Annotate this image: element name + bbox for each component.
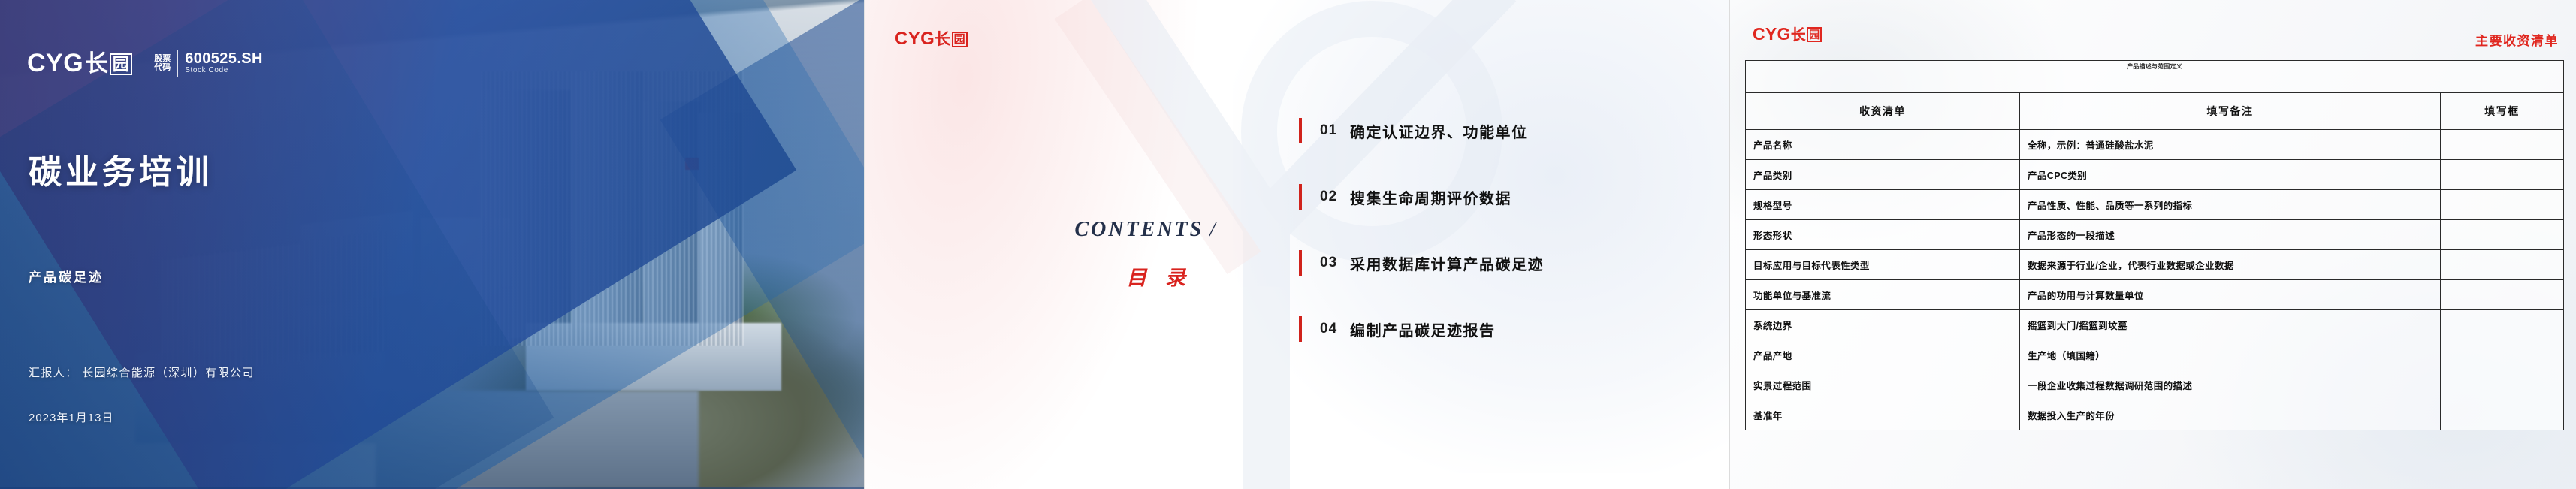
- table-row: 系统边界 摇篮到大门/摇篮到坟墓: [1746, 310, 2564, 340]
- cell-fill-input[interactable]: [2441, 190, 2564, 220]
- stock-label: 股票 代码: [154, 54, 171, 72]
- toc-item-04[interactable]: 04 编制产品碳足迹报告: [1299, 309, 1690, 349]
- cover-subtitle: 产品碳足迹: [29, 267, 104, 285]
- cell-note: 产品形态的一段描述: [2020, 220, 2441, 250]
- toc-item-number: 01: [1320, 122, 1350, 139]
- table-row: 实景过程范围 一段企业收集过程数据调研范围的描述: [1746, 370, 2564, 400]
- cell-fill-input[interactable]: [2441, 160, 2564, 190]
- cell-item: 实景过程范围: [1746, 370, 2020, 400]
- logo-divider: [143, 50, 143, 77]
- inventory-page-heading: 主要收资清单: [2475, 30, 2559, 49]
- toc-item-label: 确定认证边界、功能单位: [1350, 120, 1528, 142]
- inventory-logo-cn-boxed: 园: [1807, 27, 1822, 42]
- table-row: 功能单位与基准流 产品的功用与计算数量单位: [1746, 280, 2564, 310]
- logo-cn-text: 长: [83, 50, 109, 77]
- column-header-item: 收资清单: [1746, 93, 2020, 130]
- inventory-logo: CYG长园: [1753, 26, 1822, 43]
- cover-date: 2023年1月13日: [29, 409, 113, 425]
- inventory-logo-cn: 长: [1791, 27, 1806, 44]
- table-row: 规格型号 产品性质、性能、品质等一系列的指标: [1746, 190, 2564, 220]
- cell-fill-input[interactable]: [2441, 130, 2564, 160]
- toc-item-01[interactable]: 01 确定认证边界、功能单位: [1299, 111, 1690, 150]
- cover-logo: CYG长园 股票 代码 600525.SH Stock Code: [27, 50, 263, 77]
- toc-item-label: 编制产品碳足迹报告: [1350, 318, 1496, 340]
- cell-fill-input[interactable]: [2441, 400, 2564, 430]
- table-row: 基准年 数据投入生产的年份: [1746, 400, 2564, 430]
- toc-logo-cn-boxed: 园: [952, 32, 968, 47]
- toc-item-number: 03: [1320, 255, 1350, 271]
- toc-heading-block: CONTENTS/ 目 录: [1045, 218, 1218, 291]
- stock-label-line2: 代码: [154, 63, 171, 72]
- stock-label-line1: 股票: [154, 54, 171, 63]
- toc-logo-cn: 长: [935, 31, 950, 48]
- cover-title: 碳业务培训: [29, 145, 213, 193]
- cell-fill-input[interactable]: [2441, 250, 2564, 280]
- inventory-table-wrapper: 产品描述与范围定义 收资清单 填写备注 填写框 产品名称 全称，示例：普通硅酸盐…: [1745, 60, 2563, 430]
- cell-item: 基准年: [1746, 400, 2020, 430]
- cell-note: 数据投入生产的年份: [2020, 400, 2441, 430]
- table-row: 目标应用与目标代表性类型 数据来源于行业/企业，代表行业数据或企业数据: [1746, 250, 2564, 280]
- stock-code-value: 600525.SH: [185, 51, 263, 67]
- cell-note: 产品性质、性能、品质等一系列的指标: [2020, 190, 2441, 220]
- toc-logo: CYG长园: [895, 30, 968, 48]
- cell-note: 数据来源于行业/企业，代表行业数据或企业数据: [2020, 250, 2441, 280]
- logo-wordmark: CYG长园: [27, 50, 132, 76]
- table-row: 产品类别 产品CPC类别: [1746, 160, 2564, 190]
- cell-item: 目标应用与目标代表性类型: [1746, 250, 2020, 280]
- toc-item-02[interactable]: 02 搜集生命周期评价数据: [1299, 177, 1690, 216]
- cell-item: 系统边界: [1746, 310, 2020, 340]
- toc-heading-en-text: CONTENTS: [1074, 218, 1203, 241]
- cell-fill-input[interactable]: [2441, 280, 2564, 310]
- cell-fill-input[interactable]: [2441, 340, 2564, 370]
- toc-heading-cn: 目 录: [1045, 261, 1218, 291]
- toc-heading-slash: /: [1209, 218, 1218, 241]
- cell-item: 产品类别: [1746, 160, 2020, 190]
- slide-contents: CYG长园 CONTENTS/ 目 录 01 确定认证边界、功能单位 02 搜集…: [864, 0, 1729, 489]
- toc-item-03[interactable]: 03 采用数据库计算产品碳足迹: [1299, 243, 1690, 282]
- stock-divider: [177, 50, 178, 77]
- cell-fill-input[interactable]: [2441, 370, 2564, 400]
- logo-latin-text: CYG: [27, 49, 83, 77]
- cell-note: 一段企业收集过程数据调研范围的描述: [2020, 370, 2441, 400]
- table-row: 产品名称 全称，示例：普通硅酸盐水泥: [1746, 130, 2564, 160]
- logo-cn-boxed-text: 园: [110, 53, 133, 75]
- toc-bar-icon: [1299, 250, 1302, 276]
- toc-bar-icon: [1299, 316, 1302, 342]
- cell-note: 生产地（填国籍）: [2020, 340, 2441, 370]
- table-section-title-row: 产品描述与范围定义: [1746, 61, 2564, 93]
- cell-item: 功能单位与基准流: [1746, 280, 2020, 310]
- column-header-note: 填写备注: [2020, 93, 2441, 130]
- stock-code-block: 股票 代码 600525.SH Stock Code: [154, 50, 263, 77]
- cell-note: 产品的功用与计算数量单位: [2020, 280, 2441, 310]
- toc-item-label: 搜集生命周期评价数据: [1350, 186, 1511, 208]
- stock-code-caption: Stock Code: [185, 67, 263, 75]
- toc-bar-icon: [1299, 118, 1302, 143]
- cell-fill-input[interactable]: [2441, 310, 2564, 340]
- cell-fill-input[interactable]: [2441, 220, 2564, 250]
- table-section-title: 产品描述与范围定义: [1746, 61, 2564, 93]
- column-header-fill: 填写框: [2441, 93, 2564, 130]
- cell-item: 产品名称: [1746, 130, 2020, 160]
- slide-inventory: CYG长园 主要收资清单 产品描述与范围定义 收资清单 填写备注 填写框 产品名…: [1729, 0, 2576, 489]
- cover-presenter: 汇报人： 长园综合能源（深圳）有限公司: [29, 364, 255, 380]
- toc-item-label: 采用数据库计算产品碳足迹: [1350, 252, 1544, 274]
- table-row: 产品产地 生产地（填国籍）: [1746, 340, 2564, 370]
- toc-item-number: 04: [1320, 321, 1350, 337]
- table-row: 形态形状 产品形态的一段描述: [1746, 220, 2564, 250]
- cell-note: 摇篮到大门/摇篮到坟墓: [2020, 310, 2441, 340]
- table-header-row: 收资清单 填写备注 填写框: [1746, 93, 2564, 130]
- cell-item: 规格型号: [1746, 190, 2020, 220]
- toc-logo-latin: CYG: [895, 29, 935, 49]
- slide-strip: CYG长园 股票 代码 600525.SH Stock Code 碳业务培训 产…: [0, 0, 2576, 489]
- cell-note: 产品CPC类别: [2020, 160, 2441, 190]
- slide-cover: CYG长园 股票 代码 600525.SH Stock Code 碳业务培训 产…: [0, 0, 864, 489]
- toc-heading-en: CONTENTS/: [1045, 218, 1218, 242]
- inventory-logo-latin: CYG: [1753, 24, 1791, 44]
- inventory-table: 产品描述与范围定义 收资清单 填写备注 填写框 产品名称 全称，示例：普通硅酸盐…: [1745, 60, 2564, 430]
- cell-note: 全称，示例：普通硅酸盐水泥: [2020, 130, 2441, 160]
- toc-item-number: 02: [1320, 189, 1350, 205]
- cell-item: 形态形状: [1746, 220, 2020, 250]
- cell-item: 产品产地: [1746, 340, 2020, 370]
- toc-bar-icon: [1299, 184, 1302, 210]
- toc-list: 01 确定认证边界、功能单位 02 搜集生命周期评价数据 03 采用数据库计算产…: [1299, 111, 1690, 376]
